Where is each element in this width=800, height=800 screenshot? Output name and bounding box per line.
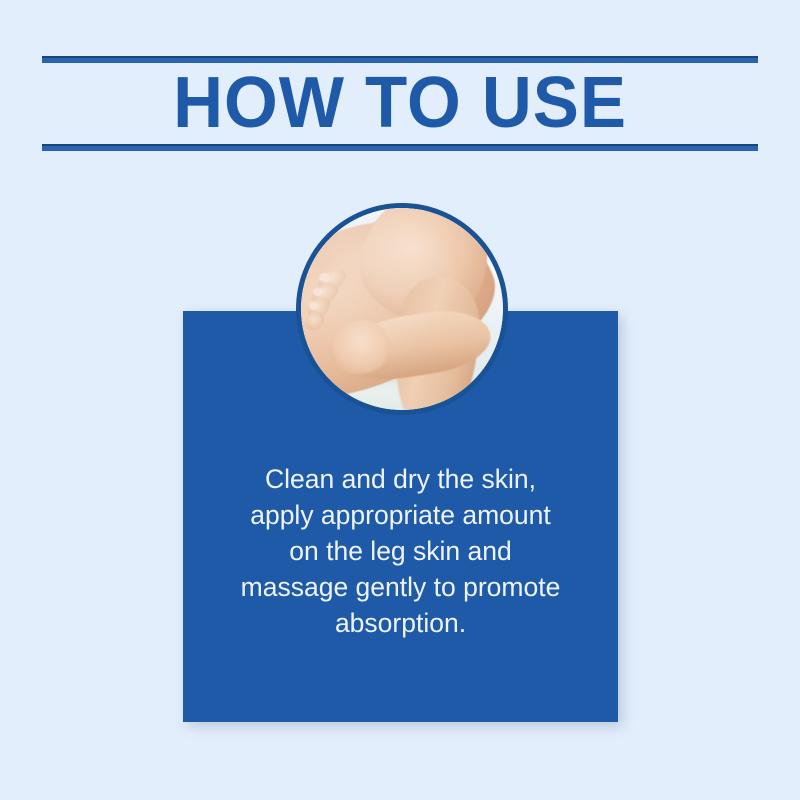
page-title: HOW TO USE [56,60,743,146]
bottom-divider [42,144,758,151]
circle-photo [296,203,508,415]
how-to-use-poster: HOW TO USE Clean and dry the skin, apply… [0,0,800,800]
circle-photo-image [301,208,503,410]
header: HOW TO USE [42,56,758,152]
instruction-text: Clean and dry the skin, apply appropriat… [183,461,618,641]
photo-fingernail [319,273,330,282]
